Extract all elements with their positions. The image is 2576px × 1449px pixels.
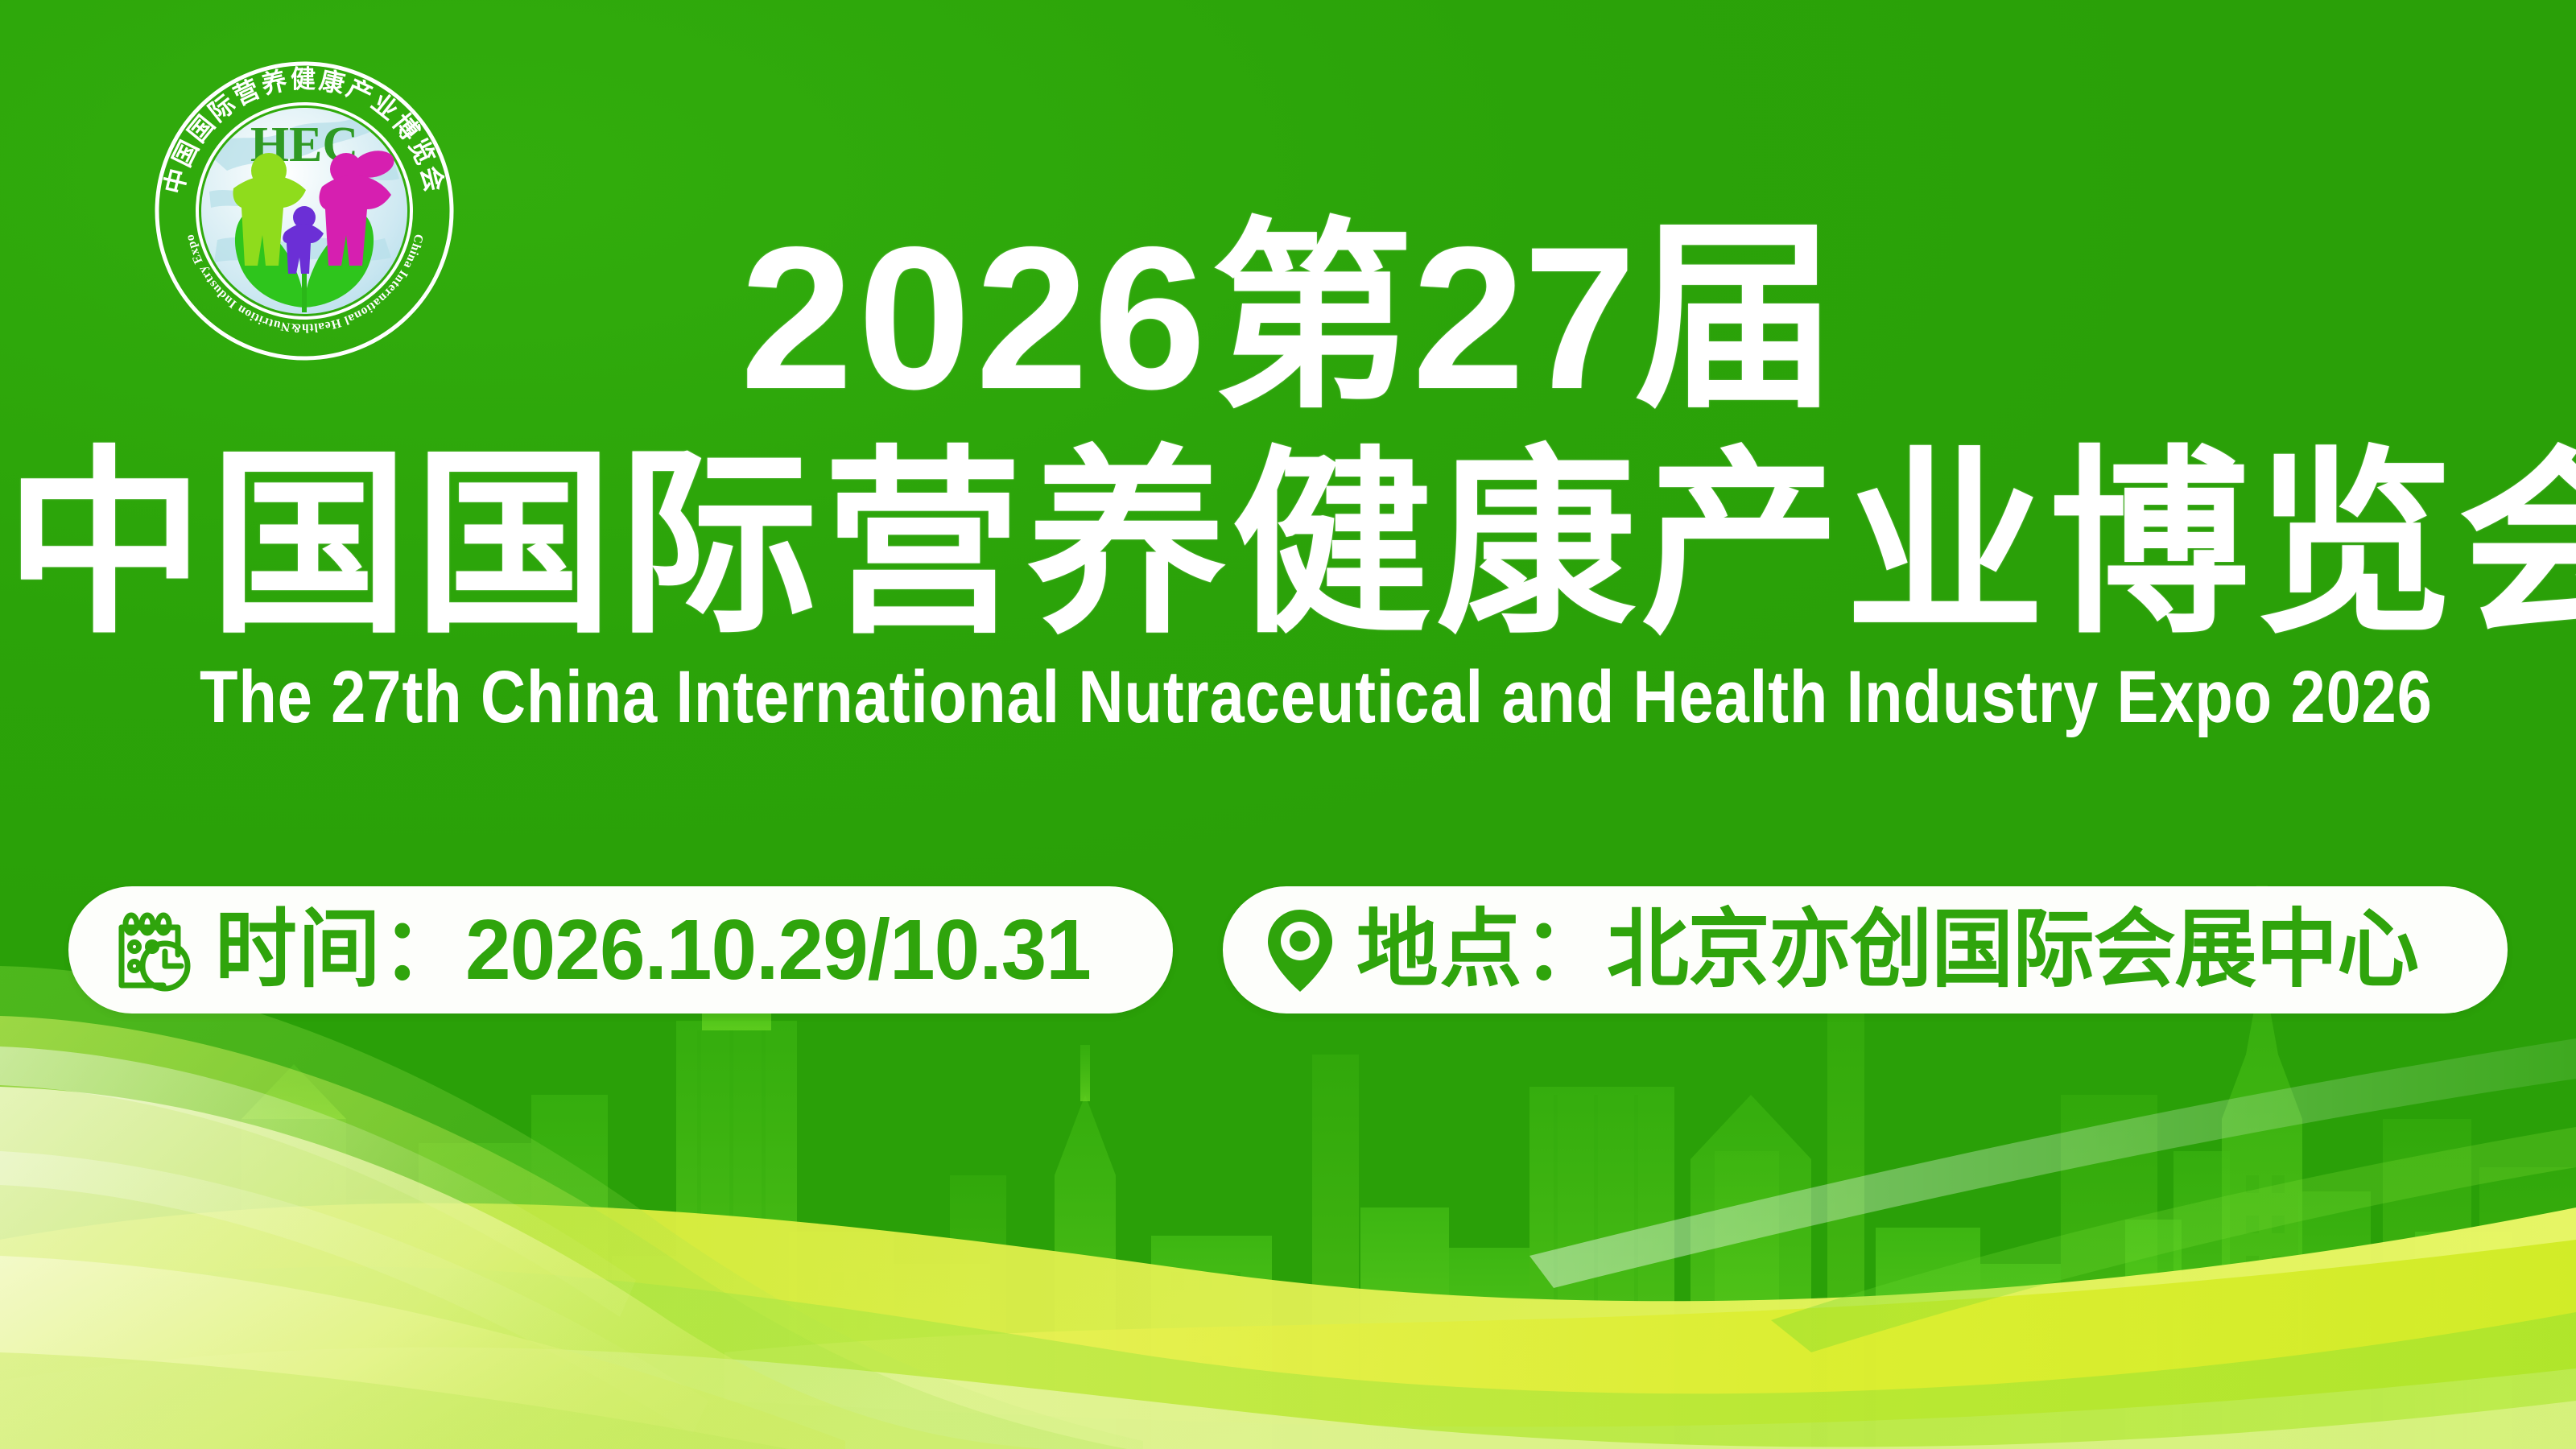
event-venue-value: 北京亦创国际会展中心 xyxy=(1607,902,2418,997)
event-venue-text: 地点：北京亦创国际会展中心 xyxy=(1356,906,2418,993)
page-title: 中国国际营养健康产业博览会 xyxy=(0,444,2576,644)
event-date-pill: 时间：2026.10.29/10.31 xyxy=(68,886,1172,1013)
event-date-text: 时间：2026.10.29/10.31 xyxy=(215,906,1091,993)
expo-banner: 中国国际营养健康产业博览会 China International Health… xyxy=(0,0,2576,1449)
event-venue-pill: 地点：北京亦创国际会展中心 xyxy=(1223,886,2508,1013)
calendar-clock-icon xyxy=(107,905,197,995)
headline-subtitle-english: The 27th China International Nutraceutic… xyxy=(200,658,2376,736)
map-pin-icon xyxy=(1261,905,1339,995)
event-venue-label: 地点： xyxy=(1356,902,1607,997)
headline-year: 2026 xyxy=(741,205,1212,431)
event-info-row: 时间：2026.10.29/10.31 地点：北京亦创国际会展中心 xyxy=(0,885,2576,1014)
headline-edition-number: 第27届 xyxy=(1211,205,1835,431)
headline-edition: 2026第27届 xyxy=(0,217,2576,420)
event-date-value: 2026.10.29/10.31 xyxy=(465,902,1091,997)
event-date-label: 时间： xyxy=(215,902,465,997)
